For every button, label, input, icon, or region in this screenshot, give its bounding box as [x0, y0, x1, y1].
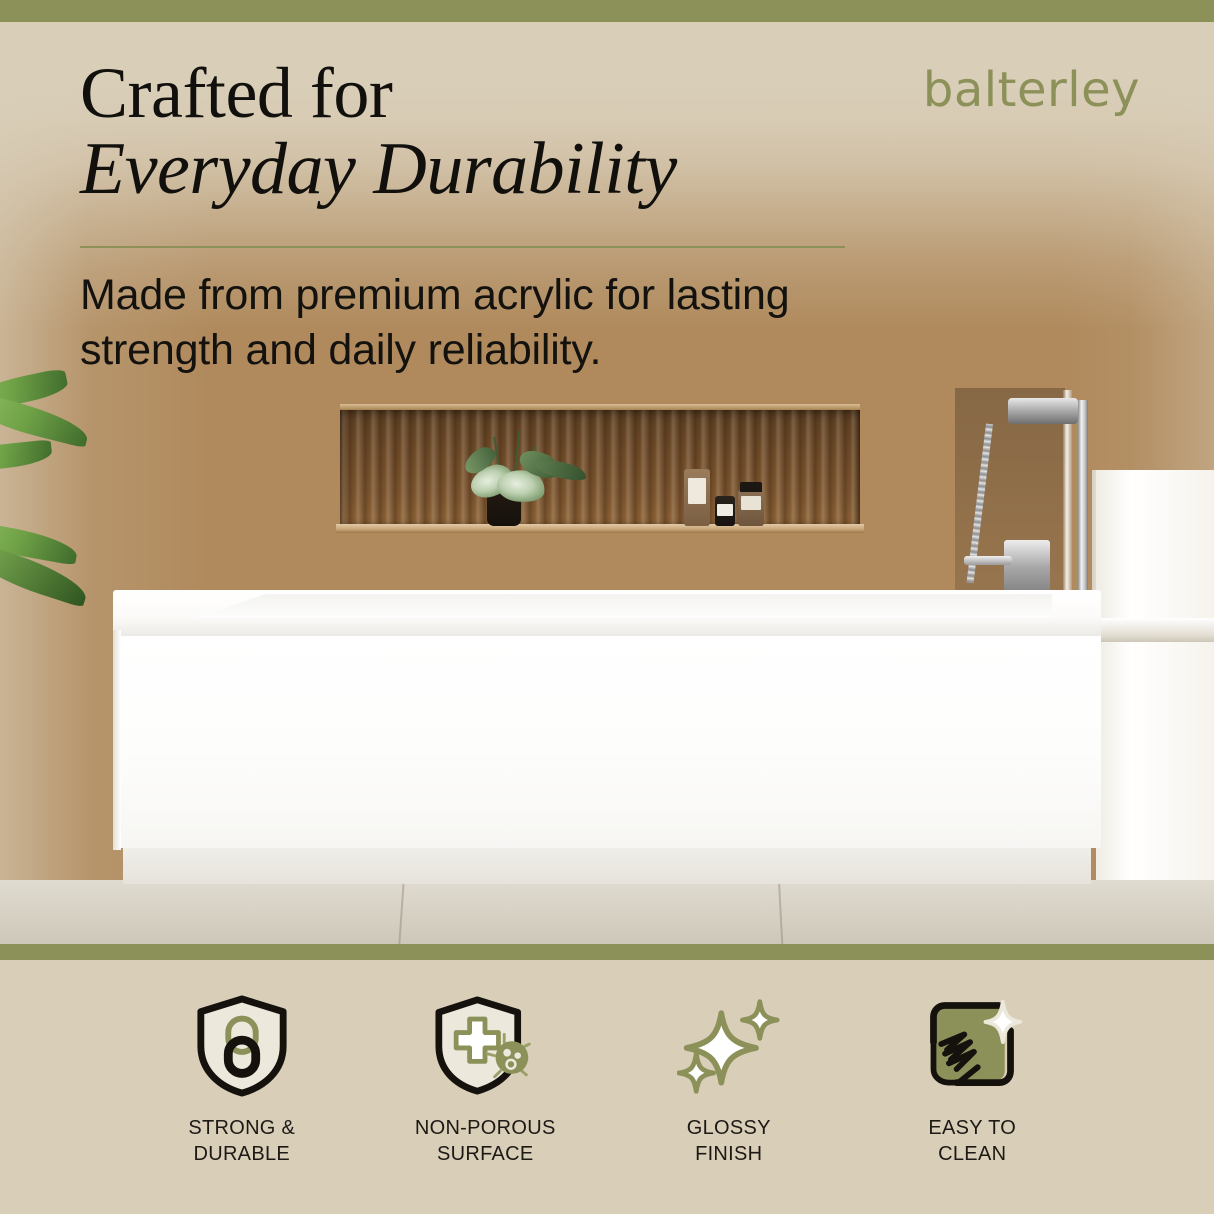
- promo-banner: Crafted for Everyday Durability Made fro…: [0, 0, 1214, 1214]
- bathtub-interior: [197, 594, 1052, 618]
- subheadline: Made from premium acrylic for lasting st…: [80, 268, 870, 378]
- headline-line-1: Crafted for: [80, 58, 900, 129]
- feature-non-porous-surface: NON-POROUS SURFACE: [364, 994, 608, 1214]
- feature-label: EASY TO CLEAN: [928, 1116, 1016, 1167]
- jar-cap: [740, 482, 762, 492]
- page-title: Crafted for Everyday Durability: [80, 58, 900, 205]
- bathtub-end-panel-edge: [113, 630, 121, 850]
- top-accent-bar: [0, 0, 1214, 22]
- header-divider: [80, 246, 845, 248]
- features-row: STRONG & DURABLE: [0, 960, 1214, 1214]
- features-accent-bar: [0, 944, 1214, 960]
- feature-label: NON-POROUS SURFACE: [415, 1116, 556, 1167]
- tap-spout: [964, 556, 1012, 565]
- headline-line-2: Everyday Durability: [80, 133, 900, 206]
- shield-germ-icon: [431, 994, 539, 1098]
- shield-chain-icon: [188, 994, 296, 1098]
- window-frame: [1096, 470, 1214, 890]
- bottle-label: [717, 504, 733, 516]
- bathtub-front-panel: [113, 636, 1101, 848]
- feature-strong-durable: STRONG & DURABLE: [120, 994, 364, 1214]
- shower-mixer-valve: [1008, 398, 1078, 424]
- feature-label: GLOSSY FINISH: [687, 1116, 771, 1167]
- niche-top-edge: [340, 404, 860, 410]
- feature-label: STRONG & DURABLE: [188, 1116, 295, 1167]
- sparkle-icon: [675, 994, 783, 1098]
- bottle-label: [741, 496, 761, 510]
- feature-easy-to-clean: EASY TO CLEAN: [851, 994, 1095, 1214]
- window-sill: [1084, 618, 1214, 642]
- bathtub: [113, 590, 1101, 890]
- niche-shelf: [340, 408, 860, 528]
- bottle-label: [688, 478, 706, 504]
- niche-shelf-lip: [336, 524, 864, 533]
- brand-logo: balterley: [923, 62, 1140, 118]
- hand-wipe-icon: [918, 994, 1026, 1098]
- feature-glossy-finish: GLOSSY FINISH: [607, 994, 851, 1214]
- bathtub-plinth: [123, 848, 1091, 884]
